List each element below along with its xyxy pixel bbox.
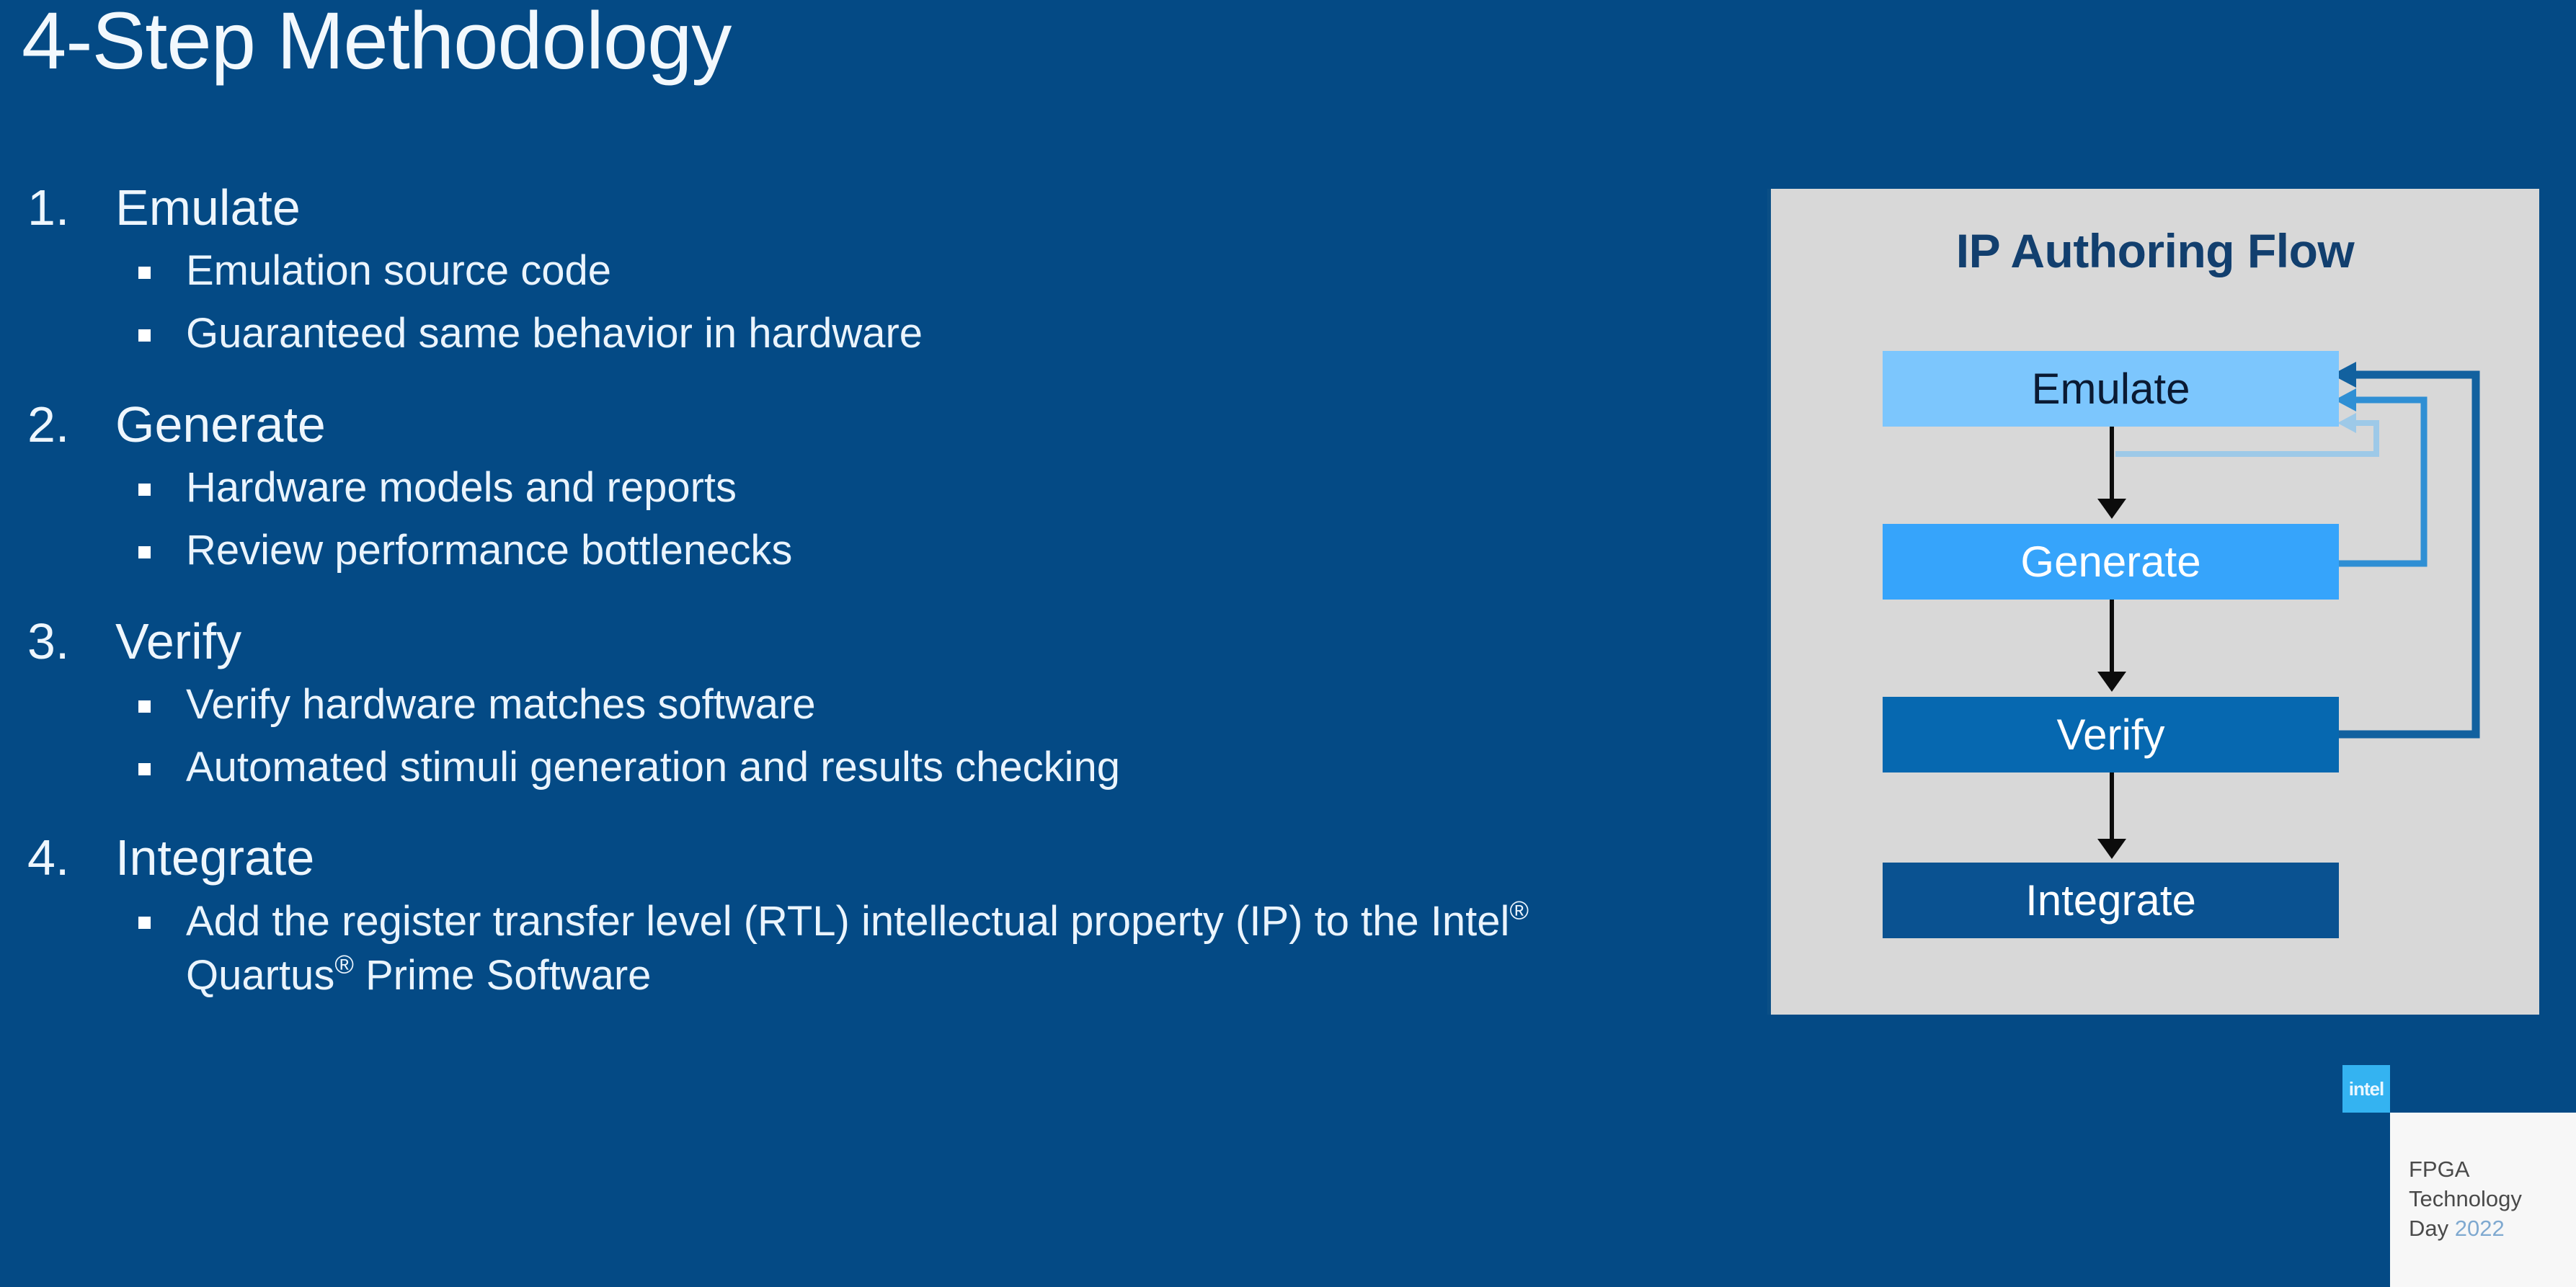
flow-box-label: Integrate [2025,876,2196,925]
step-title-3: Verify [115,613,241,670]
event-logo-card: FPGA Technology Day 2022 [2390,1113,2576,1287]
feedback-arrow-generate-to-emulate [2335,388,2424,564]
slide-canvas: 4-Step Methodology 1. Emulate Emulation … [0,0,2576,1287]
step-title-1: Emulate [115,179,301,236]
square-bullet-icon [138,329,151,342]
event-logo-text: FPGA Technology Day 2022 [2409,1154,2522,1244]
step-heading-1: 1. Emulate [0,179,1744,236]
flow-box-label: Generate [2020,537,2200,587]
bullet-text: Guaranteed same behavior in hardware [186,310,923,357]
event-logo-line-2: Technology [2409,1184,2522,1213]
ip-authoring-flow-panel: IP Authoring Flow [1767,189,2539,1015]
step-heading-2: 2. Generate [0,396,1744,453]
flow-box-verify[interactable]: Verify [1883,697,2339,772]
step-item-3: 3. Verify Verify hardware matches softwa… [0,613,1744,795]
step-bullets-3: Verify hardware matches software Automat… [0,677,1744,795]
flow-box-integrate[interactable]: Integrate [1883,863,2339,938]
bullet-text: Add the register transfer level (RTL) in… [186,898,1529,999]
list-item: Verify hardware matches software [0,677,1744,731]
list-item: Hardware models and reports [0,460,1744,515]
flow-box-label: Emulate [2031,364,2190,414]
step-number-4: 4. [0,829,115,886]
step-number-3: 3. [0,613,115,670]
bullet-text: Automated stimuli generation and results… [186,744,1120,791]
step-number-2: 2. [0,396,115,453]
list-item: Review performance bottlenecks [0,523,1744,577]
list-item: Guaranteed same behavior in hardware [0,306,1744,360]
event-logo-line-1: FPGA [2409,1154,2522,1184]
bullet-text: Hardware models and reports [186,464,737,511]
square-bullet-icon [138,763,151,775]
square-bullet-icon [138,267,151,279]
step-title-2: Generate [115,396,326,453]
step-heading-4: 4. Integrate [0,829,1744,886]
intel-wordmark: intel [2349,1078,2384,1100]
page-title: 4-Step Methodology [22,0,731,87]
list-item: Automated stimuli generation and results… [0,740,1744,794]
list-item: Add the register transfer level (RTL) in… [0,894,1577,1002]
methodology-step-list: 1. Emulate Emulation source code Guarant… [0,179,1744,1038]
step-bullets-1: Emulation source code Guaranteed same be… [0,244,1744,361]
bullet-text: Review performance bottlenecks [186,527,792,574]
event-logo: intel FPGA Technology Day 2022 [2342,1065,2576,1287]
event-logo-line-3: Day 2022 [2409,1213,2522,1243]
square-bullet-icon [138,917,151,929]
step-item-2: 2. Generate Hardware models and reports … [0,396,1744,578]
step-bullets-2: Hardware models and reports Review perfo… [0,460,1744,578]
bullet-text: Emulation source code [186,247,611,294]
square-bullet-icon [138,700,151,713]
square-bullet-icon [138,546,151,558]
square-bullet-icon [138,484,151,496]
flow-box-label: Verify [2056,710,2164,760]
list-item: Emulation source code [0,244,1744,298]
event-logo-year: 2022 [2455,1216,2505,1241]
flow-box-emulate[interactable]: Emulate [1883,351,2339,427]
bullet-text: Verify hardware matches software [186,681,816,728]
event-logo-day-label: Day [2409,1216,2455,1241]
step-item-4: 4. Integrate Add the register transfer l… [0,829,1744,1002]
step-item-1: 1. Emulate Emulation source code Guarant… [0,179,1744,361]
step-bullets-4: Add the register transfer level (RTL) in… [0,894,1744,1002]
flow-box-generate[interactable]: Generate [1883,524,2339,600]
step-title-4: Integrate [115,829,314,886]
step-heading-3: 3. Verify [0,613,1744,670]
intel-logo-badge: intel [2342,1065,2390,1113]
step-number-1: 1. [0,179,115,236]
